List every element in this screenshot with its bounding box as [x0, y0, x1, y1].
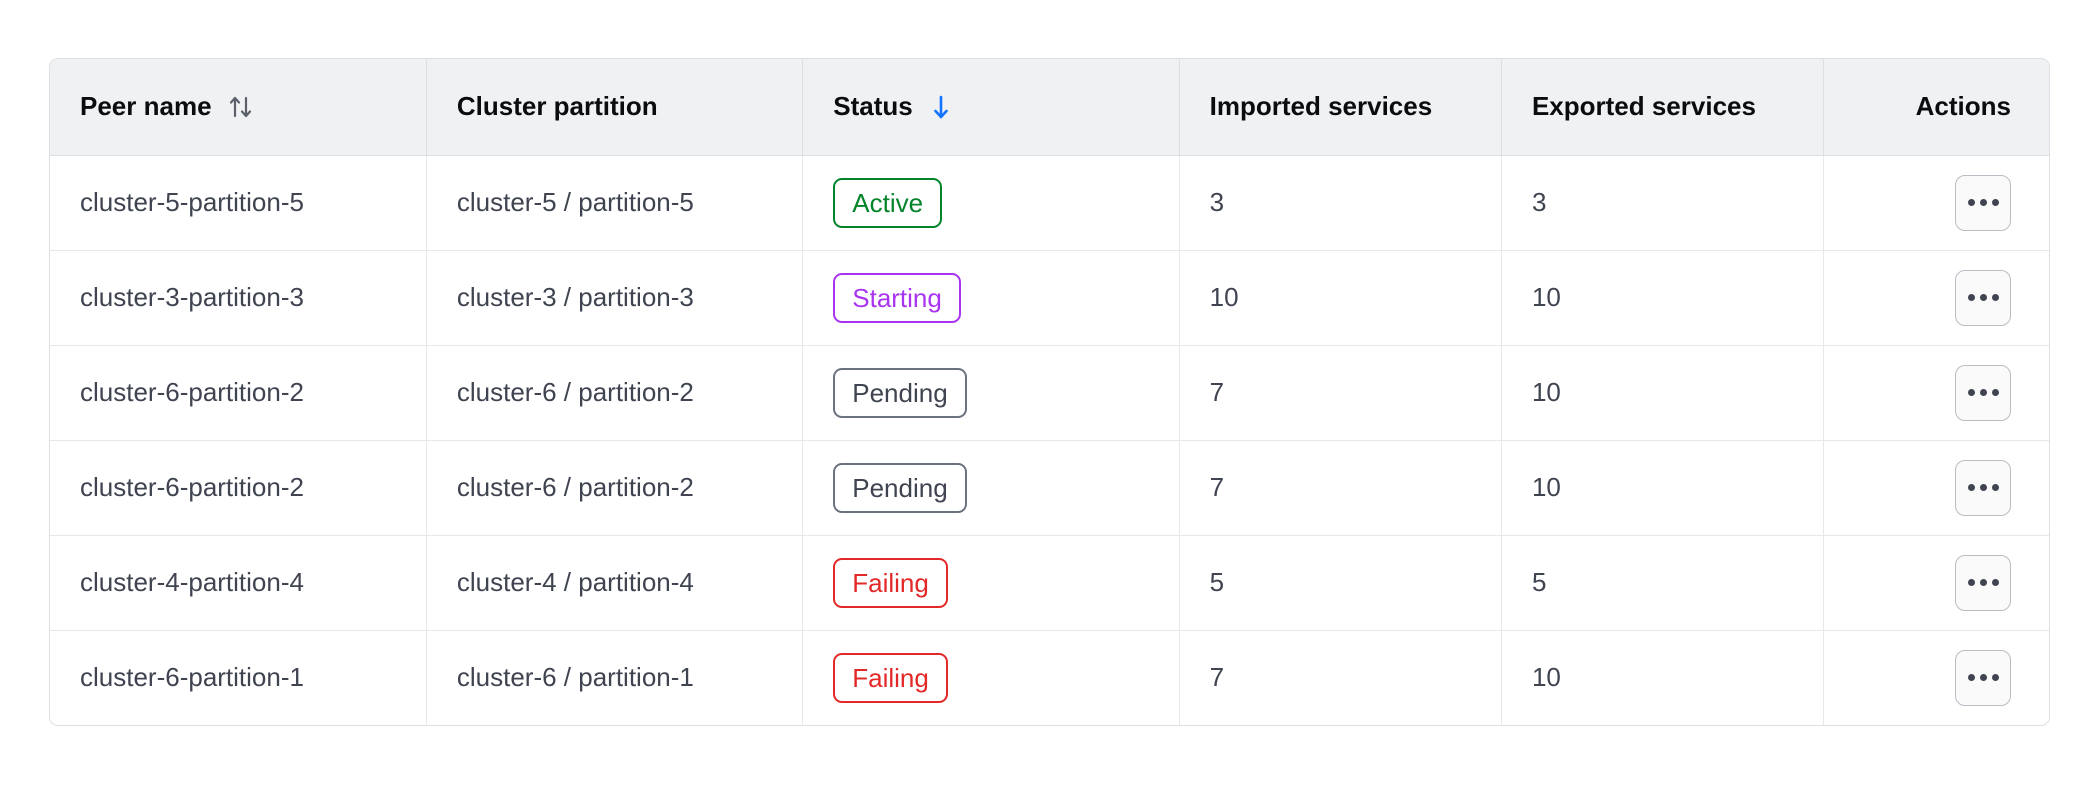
kebab-menu-icon	[1968, 674, 1999, 681]
peers-table: Peer name Cluster partition	[50, 59, 2049, 725]
cell-imported-services-text: 3	[1210, 187, 1224, 217]
cell-exported-services-text: 10	[1532, 662, 1561, 692]
row-actions-button[interactable]	[1955, 650, 2011, 706]
cell-cluster-partition: cluster-6 / partition-2	[426, 345, 802, 440]
cell-exported-services-text: 10	[1532, 377, 1561, 407]
column-header-label: Cluster partition	[457, 91, 658, 122]
cell-peer-name-text: cluster-6-partition-2	[80, 377, 304, 407]
cell-exported-services: 10	[1501, 440, 1823, 535]
sort-descending-arrow-icon[interactable]	[929, 92, 953, 122]
status-badge: Pending	[833, 368, 966, 418]
table-header-row: Peer name Cluster partition	[50, 59, 2049, 155]
column-header-actions: Actions	[1824, 59, 2049, 155]
column-header-imported-services[interactable]: Imported services	[1179, 59, 1501, 155]
table-row[interactable]: cluster-3-partition-3cluster-3 / partiti…	[50, 250, 2049, 345]
cell-actions	[1824, 535, 2049, 630]
table-row[interactable]: cluster-6-partition-2cluster-6 / partiti…	[50, 345, 2049, 440]
cell-cluster-partition: cluster-5 / partition-5	[426, 155, 802, 250]
cell-status: Failing	[803, 630, 1179, 725]
column-header-label: Status	[833, 91, 912, 122]
row-actions-button[interactable]	[1955, 175, 2011, 231]
kebab-menu-icon	[1968, 199, 1999, 206]
cell-cluster-partition-text: cluster-6 / partition-2	[457, 377, 694, 407]
cell-exported-services-text: 3	[1532, 187, 1546, 217]
cell-imported-services: 10	[1179, 250, 1501, 345]
cell-status: Starting	[803, 250, 1179, 345]
cell-imported-services-text: 7	[1210, 662, 1224, 692]
cell-exported-services-text: 10	[1532, 472, 1561, 502]
sort-both-arrows-icon[interactable]	[228, 92, 254, 122]
peers-table-container: Peer name Cluster partition	[49, 58, 2050, 726]
cell-imported-services: 5	[1179, 535, 1501, 630]
kebab-menu-icon	[1968, 389, 1999, 396]
table-header: Peer name Cluster partition	[50, 59, 2049, 155]
cell-imported-services: 7	[1179, 630, 1501, 725]
column-header-label: Exported services	[1532, 91, 1756, 122]
column-header-peer-name[interactable]: Peer name	[50, 59, 426, 155]
cell-peer-name: cluster-6-partition-1	[50, 630, 426, 725]
cell-actions	[1824, 345, 2049, 440]
column-header-exported-services[interactable]: Exported services	[1501, 59, 1823, 155]
cell-imported-services: 7	[1179, 345, 1501, 440]
cell-imported-services-text: 10	[1210, 282, 1239, 312]
row-actions-button[interactable]	[1955, 270, 2011, 326]
status-badge: Pending	[833, 463, 966, 513]
cell-cluster-partition: cluster-6 / partition-1	[426, 630, 802, 725]
column-header-label: Peer name	[80, 91, 212, 122]
cell-actions	[1824, 440, 2049, 535]
cell-peer-name: cluster-4-partition-4	[50, 535, 426, 630]
peers-table-page: Peer name Cluster partition	[0, 0, 2096, 808]
cell-actions	[1824, 155, 2049, 250]
cell-exported-services-text: 10	[1532, 282, 1561, 312]
table-row[interactable]: cluster-5-partition-5cluster-5 / partiti…	[50, 155, 2049, 250]
cell-peer-name-text: cluster-6-partition-2	[80, 472, 304, 502]
cell-exported-services-text: 5	[1532, 567, 1546, 597]
status-badge: Failing	[833, 558, 948, 608]
cell-peer-name: cluster-5-partition-5	[50, 155, 426, 250]
cell-cluster-partition: cluster-6 / partition-2	[426, 440, 802, 535]
cell-exported-services: 10	[1501, 630, 1823, 725]
status-badge: Active	[833, 178, 942, 228]
cell-peer-name-text: cluster-6-partition-1	[80, 662, 304, 692]
status-badge: Starting	[833, 273, 961, 323]
cell-cluster-partition: cluster-4 / partition-4	[426, 535, 802, 630]
cell-status: Active	[803, 155, 1179, 250]
cell-peer-name-text: cluster-5-partition-5	[80, 187, 304, 217]
cell-exported-services: 10	[1501, 345, 1823, 440]
row-actions-button[interactable]	[1955, 365, 2011, 421]
cell-exported-services: 10	[1501, 250, 1823, 345]
table-row[interactable]: cluster-4-partition-4cluster-4 / partiti…	[50, 535, 2049, 630]
table-row[interactable]: cluster-6-partition-2cluster-6 / partiti…	[50, 440, 2049, 535]
cell-imported-services-text: 7	[1210, 377, 1224, 407]
table-row[interactable]: cluster-6-partition-1cluster-6 / partiti…	[50, 630, 2049, 725]
cell-imported-services-text: 7	[1210, 472, 1224, 502]
cell-imported-services: 3	[1179, 155, 1501, 250]
column-header-label: Actions	[1916, 91, 2011, 122]
cell-imported-services-text: 5	[1210, 567, 1224, 597]
column-header-status[interactable]: Status	[803, 59, 1179, 155]
cell-status: Failing	[803, 535, 1179, 630]
status-badge: Failing	[833, 653, 948, 703]
cell-exported-services: 3	[1501, 155, 1823, 250]
cell-peer-name-text: cluster-3-partition-3	[80, 282, 304, 312]
kebab-menu-icon	[1968, 579, 1999, 586]
row-actions-button[interactable]	[1955, 555, 2011, 611]
kebab-menu-icon	[1968, 484, 1999, 491]
cell-cluster-partition: cluster-3 / partition-3	[426, 250, 802, 345]
row-actions-button[interactable]	[1955, 460, 2011, 516]
table-body: cluster-5-partition-5cluster-5 / partiti…	[50, 155, 2049, 725]
cell-cluster-partition-text: cluster-3 / partition-3	[457, 282, 694, 312]
cell-cluster-partition-text: cluster-6 / partition-1	[457, 662, 694, 692]
cell-exported-services: 5	[1501, 535, 1823, 630]
column-header-label: Imported services	[1210, 91, 1433, 122]
cell-cluster-partition-text: cluster-4 / partition-4	[457, 567, 694, 597]
cell-status: Pending	[803, 440, 1179, 535]
cell-cluster-partition-text: cluster-6 / partition-2	[457, 472, 694, 502]
kebab-menu-icon	[1968, 294, 1999, 301]
cell-peer-name: cluster-6-partition-2	[50, 345, 426, 440]
cell-peer-name: cluster-6-partition-2	[50, 440, 426, 535]
cell-actions	[1824, 250, 2049, 345]
cell-peer-name: cluster-3-partition-3	[50, 250, 426, 345]
cell-status: Pending	[803, 345, 1179, 440]
cell-peer-name-text: cluster-4-partition-4	[80, 567, 304, 597]
cell-cluster-partition-text: cluster-5 / partition-5	[457, 187, 694, 217]
cell-imported-services: 7	[1179, 440, 1501, 535]
cell-actions	[1824, 630, 2049, 725]
column-header-cluster-partition[interactable]: Cluster partition	[426, 59, 802, 155]
